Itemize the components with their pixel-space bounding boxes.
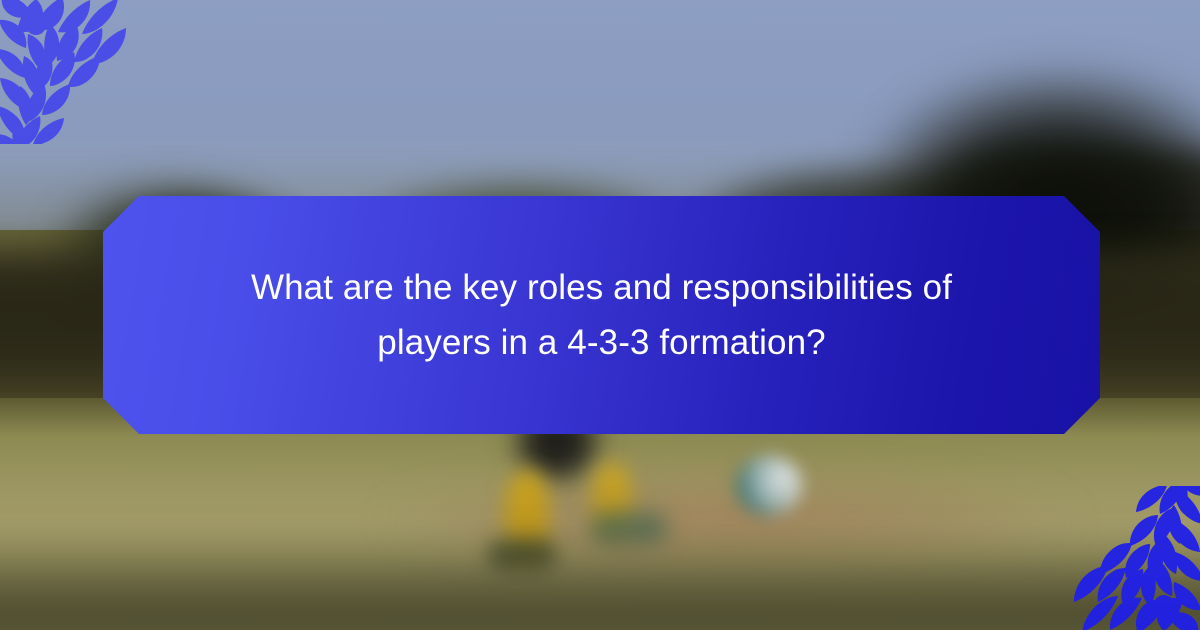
bottom-shadow: [0, 530, 1200, 630]
share-card: What are the key roles and responsibilit…: [0, 0, 1200, 630]
soccer-ball: [735, 455, 803, 517]
question-text: What are the key roles and responsibilit…: [149, 260, 1054, 371]
question-banner: What are the key roles and responsibilit…: [103, 196, 1100, 434]
